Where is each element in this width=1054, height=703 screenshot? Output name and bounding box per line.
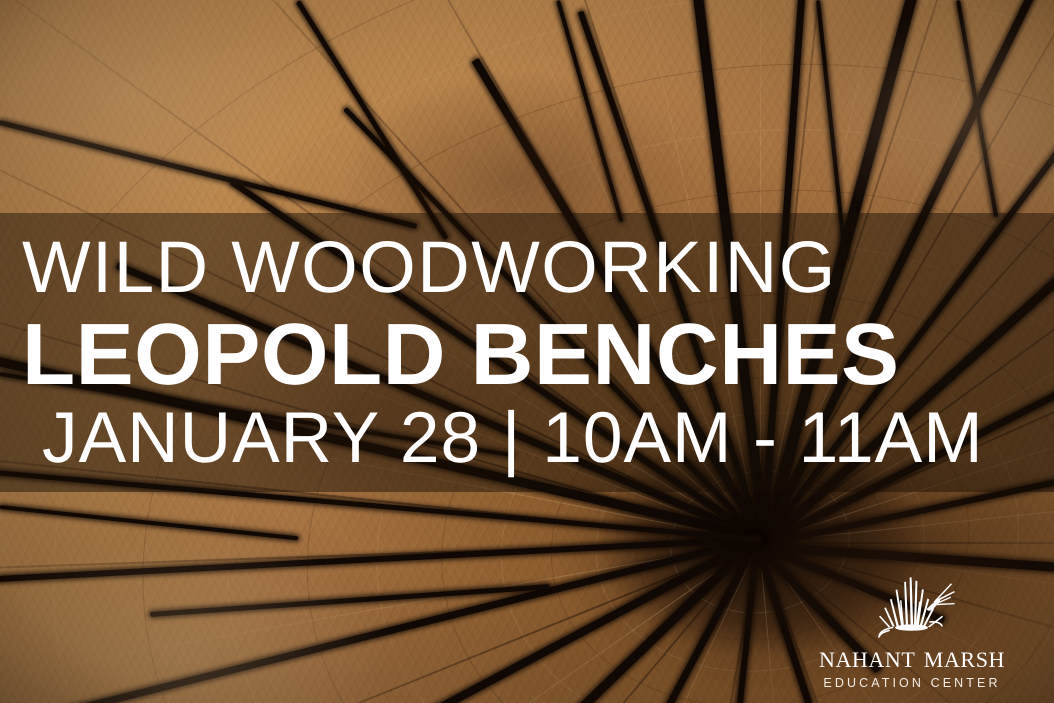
headline-line-program: WILD WOODWORKING [22,231,1035,304]
logo-subtitle: EDUCATION CENTER [796,677,1028,690]
organization-logo: Nahant Marsh EDUCATION CENTER [796,569,1028,690]
event-poster: WILD WOODWORKING LEOPOLD BENCHES JANUARY… [0,0,1054,703]
headline-line-datetime: JANUARY 28 | 10AM - 11AM [42,402,1030,474]
marsh-grass-and-dragonfly-icon [864,569,960,643]
logo-name: Nahant Marsh [796,641,1028,672]
headline-block: WILD WOODWORKING LEOPOLD BENCHES JANUARY… [0,213,1054,492]
headline-line-topic: LEOPOLD BENCHES [22,311,1040,398]
